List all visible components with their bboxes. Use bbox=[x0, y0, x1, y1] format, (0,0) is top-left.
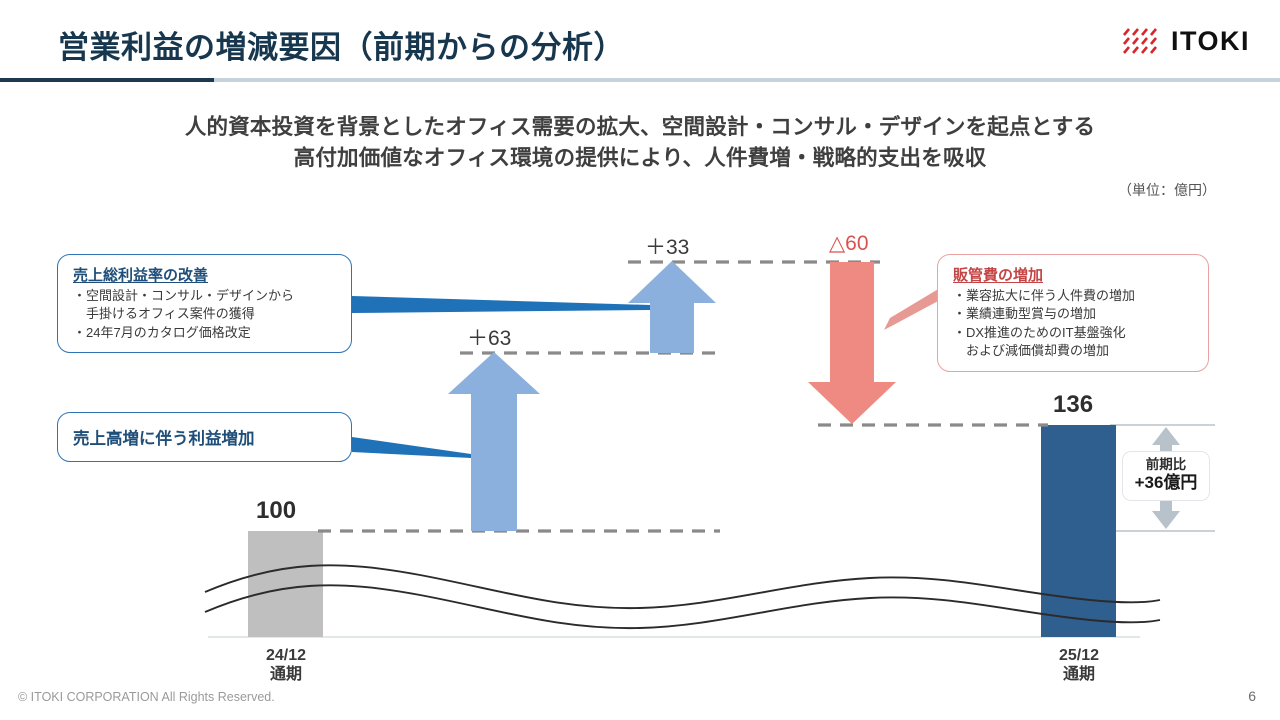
header-rule-dark bbox=[0, 78, 214, 82]
subtitle-line-2: 高付加価値なオフィス環境の提供により、人件費増・戦略的支出を吸収 bbox=[0, 143, 1280, 174]
page-title: 営業利益の増減要因（前期からの分析） bbox=[58, 22, 625, 67]
callout-gross-margin-bullet-1: ・空間設計・コンサル・デザインから 手掛けるオフィス案件の獲得 bbox=[73, 287, 338, 324]
value-label-revenue: ＋63 bbox=[467, 322, 511, 352]
slide-header: 営業利益の増減要因（前期からの分析） bbox=[0, 0, 1280, 84]
axis-label-end-line1: 25/12 bbox=[1031, 646, 1127, 665]
callout-sga-increase[interactable]: 販管費の増加 ・業容拡大に伴う人件費の増加 ・業績連動型賞与の増加 ・DX推進の… bbox=[937, 254, 1209, 372]
delta-badge-caption: 前期比 bbox=[1125, 457, 1207, 473]
footer-copyright: © ITOKI CORPORATION All Rights Reserved. bbox=[18, 690, 275, 704]
logo-wordmark: ITOKI bbox=[1171, 28, 1250, 55]
connector-revenue bbox=[352, 437, 471, 458]
bar-start-total bbox=[248, 531, 323, 637]
callout-gross-margin-title: 売上総利益率の改善 bbox=[73, 264, 338, 285]
bar-label-start-total: 100 bbox=[256, 497, 296, 525]
callout-sga-increase-bullet-3: ・DX推進のためのIT基盤強化 および減価償却費の増加 bbox=[953, 324, 1195, 361]
callout-sga-increase-bullet-1: ・業容拡大に伴う人件費の増加 bbox=[953, 287, 1195, 305]
callout-gross-margin[interactable]: 売上総利益率の改善 ・空間設計・コンサル・デザインから 手掛けるオフィス案件の獲… bbox=[57, 254, 352, 353]
callout-gross-margin-bullet-2: ・24年7月のカタログ価格改定 bbox=[73, 324, 338, 342]
axis-break-wave-upper bbox=[205, 565, 1160, 608]
callout-sga-increase-title: 販管費の増加 bbox=[953, 264, 1195, 285]
subtitle-line-1: 人的資本投資を背景としたオフィス需要の拡大、空間設計・コンサル・デザインを起点と… bbox=[0, 112, 1280, 143]
axis-label-end-line2: 通期 bbox=[1031, 665, 1127, 684]
itoki-hatch-mark-icon bbox=[1122, 27, 1162, 55]
axis-label-start: 24/12 通期 bbox=[238, 646, 334, 684]
value-label-sga: △60 bbox=[829, 231, 869, 256]
axis-break-wave-lower bbox=[205, 585, 1160, 628]
arrow-decrease-sga bbox=[808, 262, 896, 424]
header-rule-light bbox=[214, 78, 1280, 82]
footer-page-number: 6 bbox=[1248, 688, 1256, 704]
axis-label-end: 25/12 通期 bbox=[1031, 646, 1127, 684]
axis-label-start-line1: 24/12 bbox=[238, 646, 334, 665]
unit-note: （単位：億円） bbox=[1118, 180, 1216, 200]
arrow-increase-revenue bbox=[448, 352, 540, 531]
callout-revenue-growth[interactable]: 売上高増に伴う利益増加 bbox=[57, 412, 352, 462]
connector-gross-margin bbox=[352, 296, 650, 313]
bar-label-end-total: 136 bbox=[1053, 391, 1093, 419]
callout-sga-increase-bullet-2: ・業績連動型賞与の増加 bbox=[953, 305, 1195, 323]
brand-logo: ITOKI bbox=[1122, 27, 1250, 55]
delta-badge-value: +36億円 bbox=[1125, 473, 1207, 493]
arrow-increase-margin bbox=[628, 261, 716, 353]
axis-label-start-line2: 通期 bbox=[238, 665, 334, 684]
bar-end-total bbox=[1041, 425, 1116, 637]
connector-sga bbox=[884, 288, 940, 330]
delta-badge: 前期比 +36億円 bbox=[1122, 451, 1210, 501]
value-label-margin: ＋33 bbox=[645, 231, 689, 261]
callout-revenue-growth-title: 売上高増に伴う利益増加 bbox=[73, 425, 255, 449]
subtitle-block: 人的資本投資を背景としたオフィス需要の拡大、空間設計・コンサル・デザインを起点と… bbox=[0, 112, 1280, 173]
